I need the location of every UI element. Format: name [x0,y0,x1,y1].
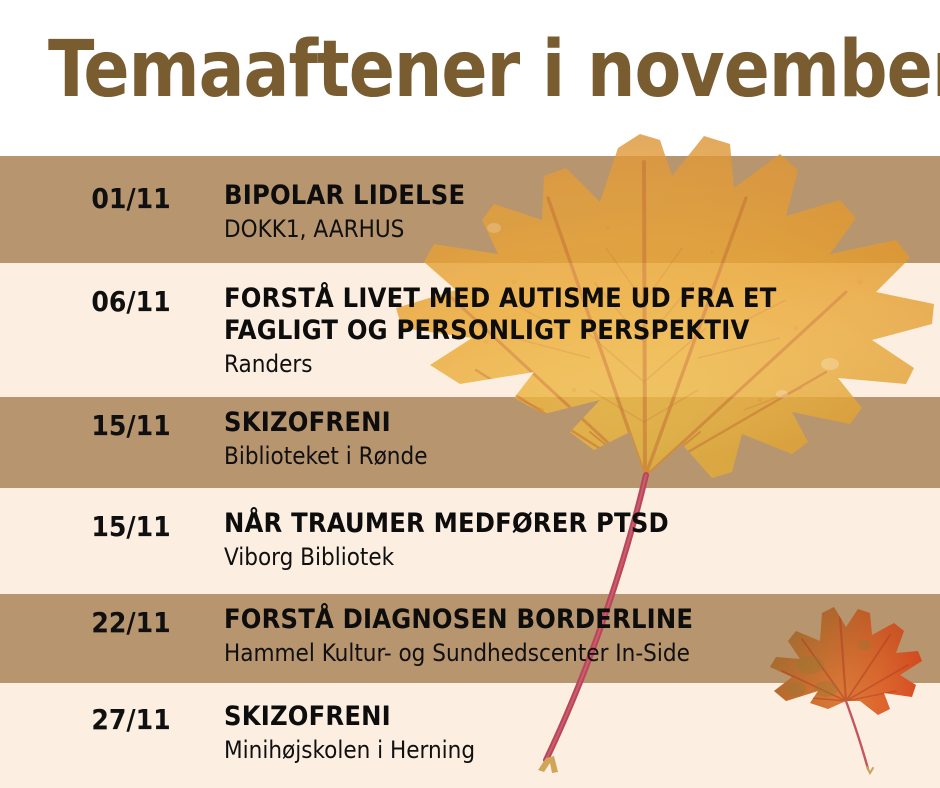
event-body: FORSTÅ LIVET MED AUTISME UD FRA ET FAGLI… [224,283,924,379]
event-title: SKIZOFRENI [224,701,924,733]
event-venue: Viborg Bibliotek [224,542,924,572]
event-title: SKIZOFRENI [224,407,924,439]
event-venue: Minihøjskolen i Herning [224,735,924,765]
event-body: SKIZOFRENI Biblioteket i Rønde [224,407,924,471]
event-venue: Hammel Kultur- og Sundhedscenter In-Side [224,638,924,668]
list-item[interactable]: 27/11 SKIZOFRENI Minihøjskolen i Herning [0,683,940,788]
list-item[interactable]: 06/11 FORSTÅ LIVET MED AUTISME UD FRA ET… [0,263,940,397]
event-date: 22/11 [56,608,206,638]
event-venue: Randers [224,349,924,379]
event-date: 15/11 [56,512,206,542]
list-item[interactable]: 01/11 BIPOLAR LIDELSE DOKK1, AARHUS [0,156,940,263]
event-date: 01/11 [56,184,206,214]
event-body: SKIZOFRENI Minihøjskolen i Herning [224,701,924,765]
event-title: NÅR TRAUMER MEDFØRER PTSD [224,508,924,540]
event-venue: DOKK1, AARHUS [224,214,924,244]
list-item[interactable]: 15/11 SKIZOFRENI Biblioteket i Rønde [0,397,940,488]
event-title: BIPOLAR LIDELSE [224,180,924,212]
event-body: NÅR TRAUMER MEDFØRER PTSD Viborg Bibliot… [224,508,924,572]
poster-canvas: Temaaftener i november [0,0,940,788]
event-body: BIPOLAR LIDELSE DOKK1, AARHUS [224,180,924,244]
event-venue: Biblioteket i Rønde [224,441,924,471]
event-body: FORSTÅ DIAGNOSEN BORDERLINE Hammel Kultu… [224,604,924,668]
event-date: 06/11 [56,287,206,317]
event-title: FORSTÅ LIVET MED AUTISME UD FRA ET FAGLI… [224,283,924,347]
list-item[interactable]: 22/11 FORSTÅ DIAGNOSEN BORDERLINE Hammel… [0,594,940,683]
event-date: 27/11 [56,705,206,735]
event-date: 15/11 [56,411,206,441]
list-item[interactable]: 15/11 NÅR TRAUMER MEDFØRER PTSD Viborg B… [0,488,940,594]
event-title: FORSTÅ DIAGNOSEN BORDERLINE [224,604,924,636]
